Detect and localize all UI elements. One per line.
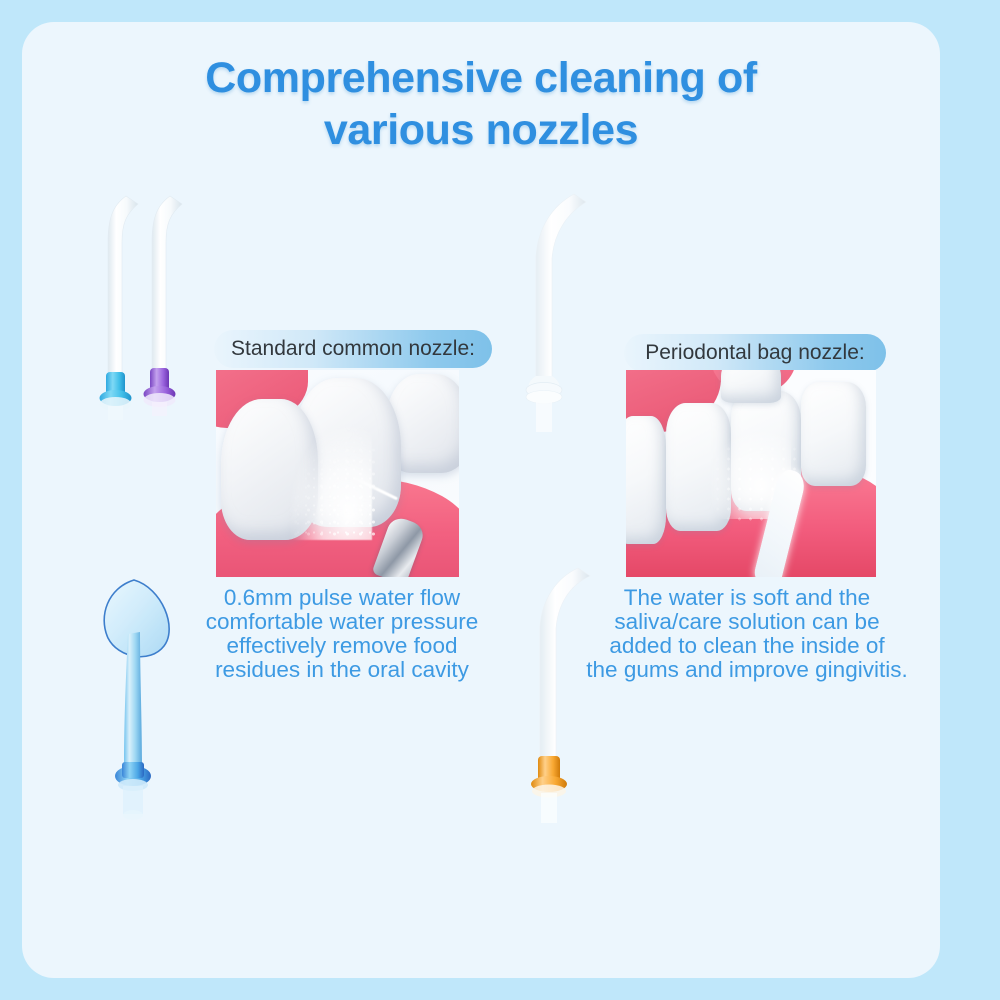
feature-block-tongue-scraping-nozzle: Tongue scraping nozzle: <box>92 554 512 954</box>
feature-block-periodontal-bag-nozzle: Periodontal bag nozzle: The water is sof… <box>502 162 932 552</box>
orthodontic-nozzle-icon <box>512 564 622 834</box>
page-title: Comprehensive cleaning of various nozzle… <box>22 52 940 156</box>
photo-molar-water-jet <box>216 370 459 577</box>
title-line-2: various nozzles <box>22 104 940 156</box>
photo-incisor-water-stream <box>626 370 876 577</box>
tongue-scraper-nozzle-icon <box>92 572 210 842</box>
feature-block-orthodontic-braces-sprinkler: Orthodontic/ braces sprinklers: fit the … <box>502 554 932 954</box>
title-line-1: Comprehensive cleaning of <box>205 54 757 102</box>
label-periodontal-bag-nozzle: Periodontal bag nozzle: <box>624 334 886 372</box>
feature-block-standard-common-nozzle: Standard common nozzle: 0.6mm pulse wate… <box>92 162 512 552</box>
periodontal-nozzle-icon <box>512 190 622 450</box>
infographic-card: Comprehensive cleaning of various nozzle… <box>22 22 940 978</box>
label-standard-common-nozzle: Standard common nozzle: <box>214 330 492 368</box>
standard-nozzle-pair-icon <box>92 190 212 450</box>
